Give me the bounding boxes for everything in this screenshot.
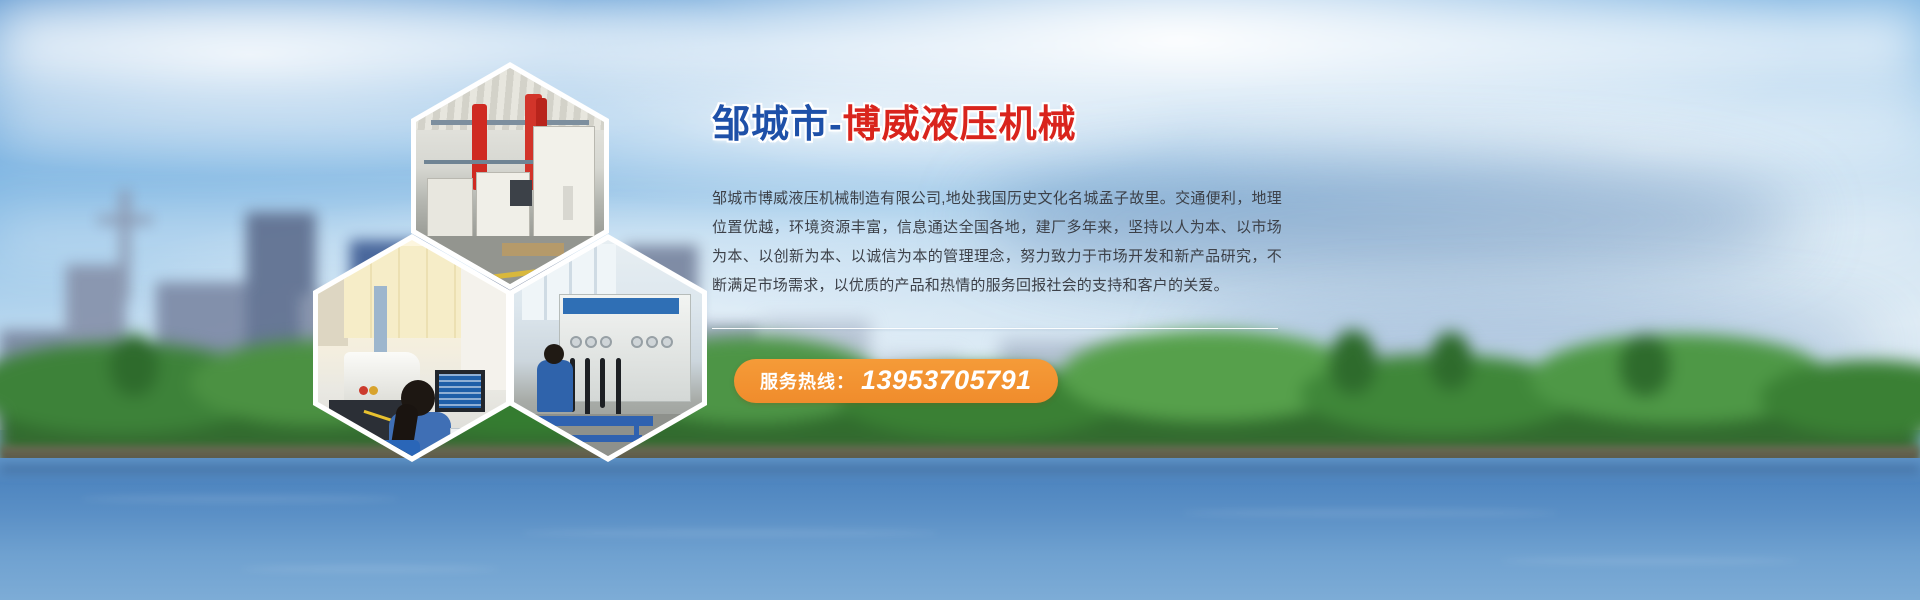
control-panel <box>510 180 532 206</box>
water-edge-shadow <box>0 464 1920 474</box>
worker-head <box>544 344 564 364</box>
river-water <box>0 458 1920 600</box>
water-ripple <box>1500 558 1800 564</box>
hotline-label: 服务热线： <box>760 368 855 394</box>
indicator-light <box>369 386 378 395</box>
measuring-column <box>374 286 387 358</box>
lab-wall-panel <box>344 246 461 338</box>
hexagon-photo-cluster <box>310 62 710 442</box>
tool-cart-shelf <box>533 435 642 442</box>
company-title-brand: 博威液压机械 <box>843 104 1077 146</box>
overhead-beam <box>431 120 589 125</box>
photo-inner <box>514 240 702 456</box>
water-ripple <box>240 566 500 572</box>
hydraulic-hose <box>600 358 605 408</box>
hydraulic-test-bench-image <box>514 240 702 456</box>
company-description: 邹城市博威液压机械制造有限公司,地处我国历史文化名城孟子故里。交通便利，地理位置… <box>712 184 1282 300</box>
water-ripple <box>520 530 940 536</box>
content-divider <box>712 328 1278 329</box>
cabinet-label-bar <box>563 298 680 314</box>
screen-content <box>439 374 481 408</box>
photo-inner <box>416 68 604 284</box>
laboratory-technician-image <box>318 240 506 456</box>
guard-rail <box>424 160 541 164</box>
vent-grille <box>563 186 573 220</box>
tree <box>110 334 158 396</box>
hydraulic-hose <box>616 358 621 418</box>
control-knob <box>631 336 643 348</box>
control-knob <box>646 336 658 348</box>
water-ripple <box>80 496 400 502</box>
company-title-prefix: 邹城市- <box>712 104 843 146</box>
crane-tower <box>120 190 130 300</box>
factory-cnc-machines-image <box>416 68 604 284</box>
tree <box>1430 332 1472 390</box>
worker-body <box>537 360 573 412</box>
water-ripple <box>1180 510 1560 516</box>
photo-inner <box>318 240 506 456</box>
cnc-machine <box>427 178 473 244</box>
hydraulic-hose <box>585 358 590 416</box>
hotline-number: 13953705791 <box>861 365 1032 396</box>
hotline-badge[interactable]: 服务热线： 13953705791 <box>734 359 1058 403</box>
banner-content: 邹城市-博威液压机械 邹城市博威液压机械制造有限公司,地处我国历史文化名城孟子故… <box>712 104 1312 403</box>
tree <box>1330 330 1376 394</box>
computer-monitor <box>435 370 485 412</box>
cloud-band <box>0 10 1920 80</box>
control-knob <box>661 336 673 348</box>
tree <box>1620 334 1670 396</box>
company-title: 邹城市-博威液压机械 <box>712 104 1312 148</box>
wooden-pallet <box>502 243 564 256</box>
